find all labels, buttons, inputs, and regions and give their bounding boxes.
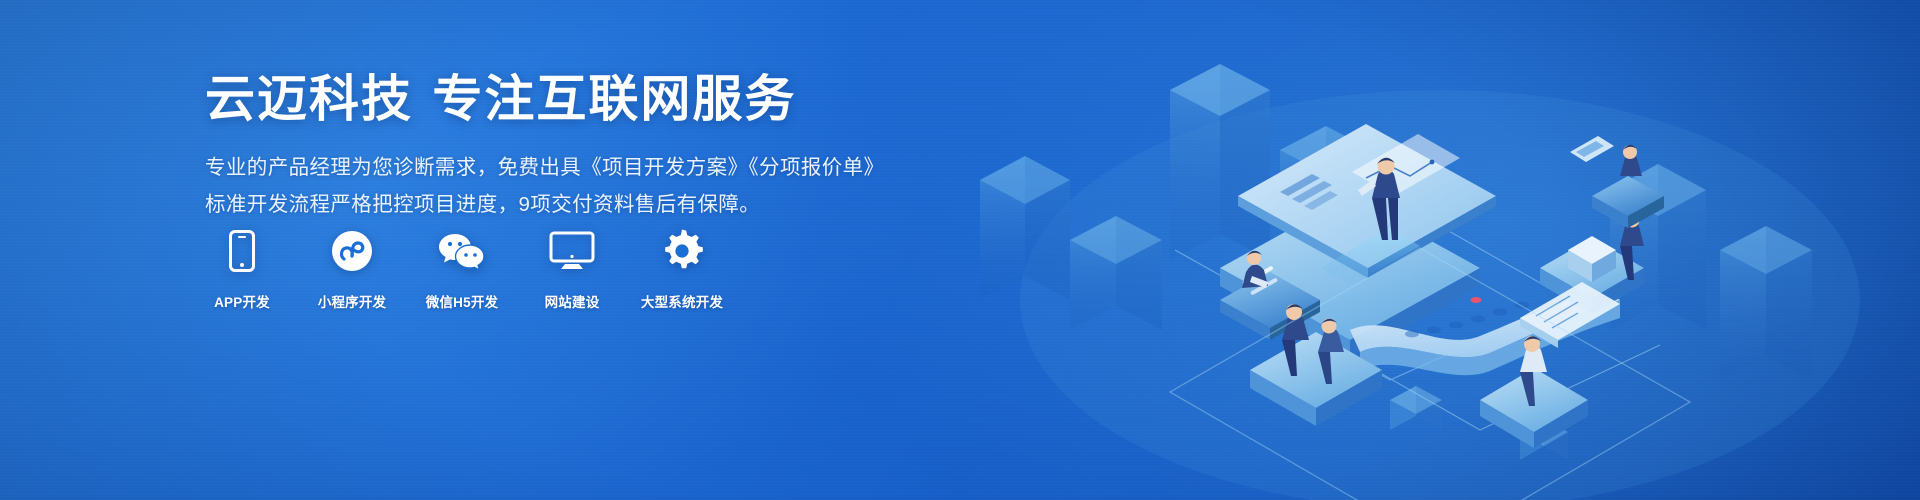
hero-copy: 云迈科技 专注互联网服务 专业的产品经理为您诊断需求，免费出具《项目开发方案》《… bbox=[205, 72, 965, 224]
isometric-data-platform-illustration bbox=[920, 0, 1920, 500]
mini-program-icon bbox=[331, 228, 373, 274]
subtitle-line-1: 专业的产品经理为您诊断需求，免费出具《项目开发方案》《分项报价单》 bbox=[205, 150, 965, 187]
service-label: 微信H5开发 bbox=[426, 291, 498, 311]
service-item-wechat-h5[interactable]: 微信H5开发 bbox=[425, 228, 499, 311]
page-title: 云迈科技 专注互联网服务 bbox=[205, 72, 965, 126]
hero-banner: 云迈科技 专注互联网服务 专业的产品经理为您诊断需求，免费出具《项目开发方案》《… bbox=[0, 0, 1920, 500]
service-item-mini-program[interactable]: 小程序开发 bbox=[315, 228, 389, 311]
service-item-app[interactable]: APP开发 bbox=[205, 228, 279, 311]
service-list: APP开发 小程序开发 bbox=[205, 228, 719, 311]
service-item-large-system[interactable]: 大型系统开发 bbox=[645, 228, 719, 311]
gear-icon bbox=[660, 228, 704, 274]
service-item-website[interactable]: 网站建设 bbox=[535, 228, 609, 311]
wechat-icon bbox=[438, 228, 486, 274]
service-label: APP开发 bbox=[214, 291, 270, 311]
service-label: 大型系统开发 bbox=[641, 291, 723, 311]
service-label: 网站建设 bbox=[545, 291, 600, 311]
monitor-icon bbox=[549, 228, 595, 274]
mobile-phone-icon bbox=[229, 228, 255, 274]
subtitle-line-2: 标准开发流程严格把控项目进度，9项交付资料售后有保障。 bbox=[205, 187, 965, 224]
hero-subtitle: 专业的产品经理为您诊断需求，免费出具《项目开发方案》《分项报价单》 标准开发流程… bbox=[205, 150, 965, 224]
service-label: 小程序开发 bbox=[318, 291, 387, 311]
